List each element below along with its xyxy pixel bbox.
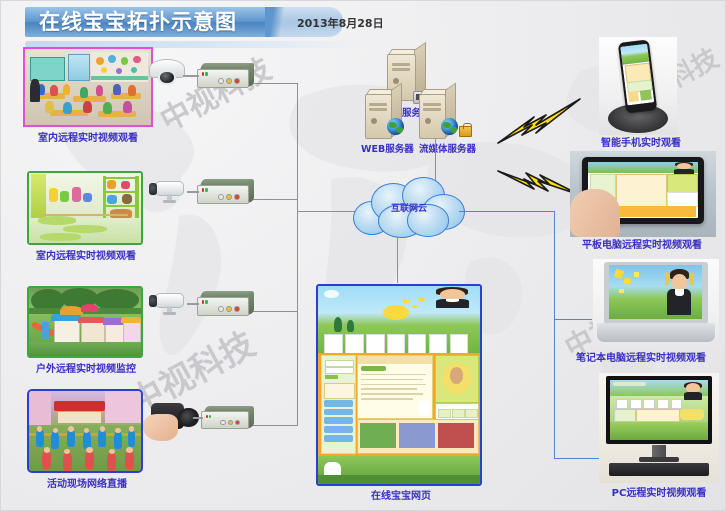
caption-indoor-playroom: 室内远程实时视频观看 xyxy=(11,251,161,263)
link-camera-to-encoder xyxy=(187,303,199,305)
wireless-bolt-icon xyxy=(496,97,582,145)
link-encoder-to-trunk xyxy=(253,425,297,426)
caption-outdoor-playground: 户外远程实时视频监控 xyxy=(11,364,161,376)
baby-website-page xyxy=(318,286,480,484)
thumbnail-baby-website xyxy=(316,284,482,486)
caption-baby-website: 在线宝宝网页 xyxy=(331,491,471,503)
video-encoder-icon xyxy=(197,63,253,89)
thumbnail-indoor-classroom xyxy=(23,47,153,127)
camcorder-icon xyxy=(141,396,201,442)
internet-cloud-icon: 互联网云 xyxy=(353,177,465,239)
link-cloud-to-webpage xyxy=(397,237,398,283)
video-encoder-icon xyxy=(197,179,253,205)
caption-indoor-classroom: 室内远程实时视频观看 xyxy=(13,133,163,145)
scene-tablet xyxy=(570,151,716,237)
thumbnail-tablet xyxy=(570,151,716,237)
video-encoder-icon xyxy=(197,291,253,317)
trunk-line-sources xyxy=(297,83,298,426)
link-camera-to-encoder xyxy=(183,75,199,77)
scene-classroom xyxy=(25,49,151,125)
security-lock-icon xyxy=(459,126,472,137)
scene-desktop-pc xyxy=(599,373,719,483)
globe-icon xyxy=(441,118,458,135)
caption-laptop: 笔记本电脑远程实时视频观看 xyxy=(561,353,721,365)
scene-event xyxy=(29,391,141,471)
thumbnail-event-broadcast xyxy=(27,389,143,473)
server-label-web: WEB服务器 xyxy=(361,141,414,155)
caption-tablet: 平板电脑远程实时视频观看 xyxy=(566,240,718,252)
link-trunk-to-pc xyxy=(554,458,599,459)
thumbnail-outdoor-playground xyxy=(27,286,143,358)
link-trunk-to-laptop xyxy=(554,319,592,320)
link-encoder-to-trunk xyxy=(253,311,297,312)
scene-playground xyxy=(29,288,141,356)
scene-laptop xyxy=(593,259,719,351)
server-label-streaming: 流媒体服务器 xyxy=(419,141,476,155)
bullet-camera-icon xyxy=(149,177,189,203)
thumbnail-laptop xyxy=(593,259,719,351)
bullet-camera-icon xyxy=(149,289,189,315)
caption-desktop-pc: PC远程实时视频观看 xyxy=(591,488,726,500)
link-camera-to-encoder xyxy=(193,417,203,419)
video-encoder-icon xyxy=(201,406,253,430)
globe-icon xyxy=(387,118,404,135)
link-encoder-to-trunk xyxy=(253,83,297,84)
link-cloud-to-clients xyxy=(459,211,555,212)
cloud-label: 互联网云 xyxy=(353,201,465,214)
header-date: 2013年8月28日 xyxy=(297,15,384,31)
link-camera-to-encoder xyxy=(187,191,199,193)
thumbnail-desktop-pc xyxy=(599,373,719,483)
scene-smartphone-dock xyxy=(599,37,677,135)
caption-smartphone: 智能手机实时观看 xyxy=(595,138,687,150)
scene-playroom xyxy=(29,173,141,243)
dome-camera-icon xyxy=(149,59,185,89)
thumbnail-indoor-playroom xyxy=(27,171,143,245)
topology-diagram: 中视科技 中视科技 中视科技 中视科技 中视科技 在线宝宝拓扑示意图 2013年… xyxy=(0,0,726,511)
page-title: 在线宝宝拓扑示意图 xyxy=(39,8,237,36)
page-header: 在线宝宝拓扑示意图 2013年8月28日 xyxy=(25,7,343,37)
thumbnail-smartphone xyxy=(599,37,677,135)
link-encoder-to-trunk xyxy=(253,199,297,200)
caption-event-broadcast: 活动现场网络直播 xyxy=(17,479,157,491)
client-trunk-line xyxy=(554,211,555,459)
